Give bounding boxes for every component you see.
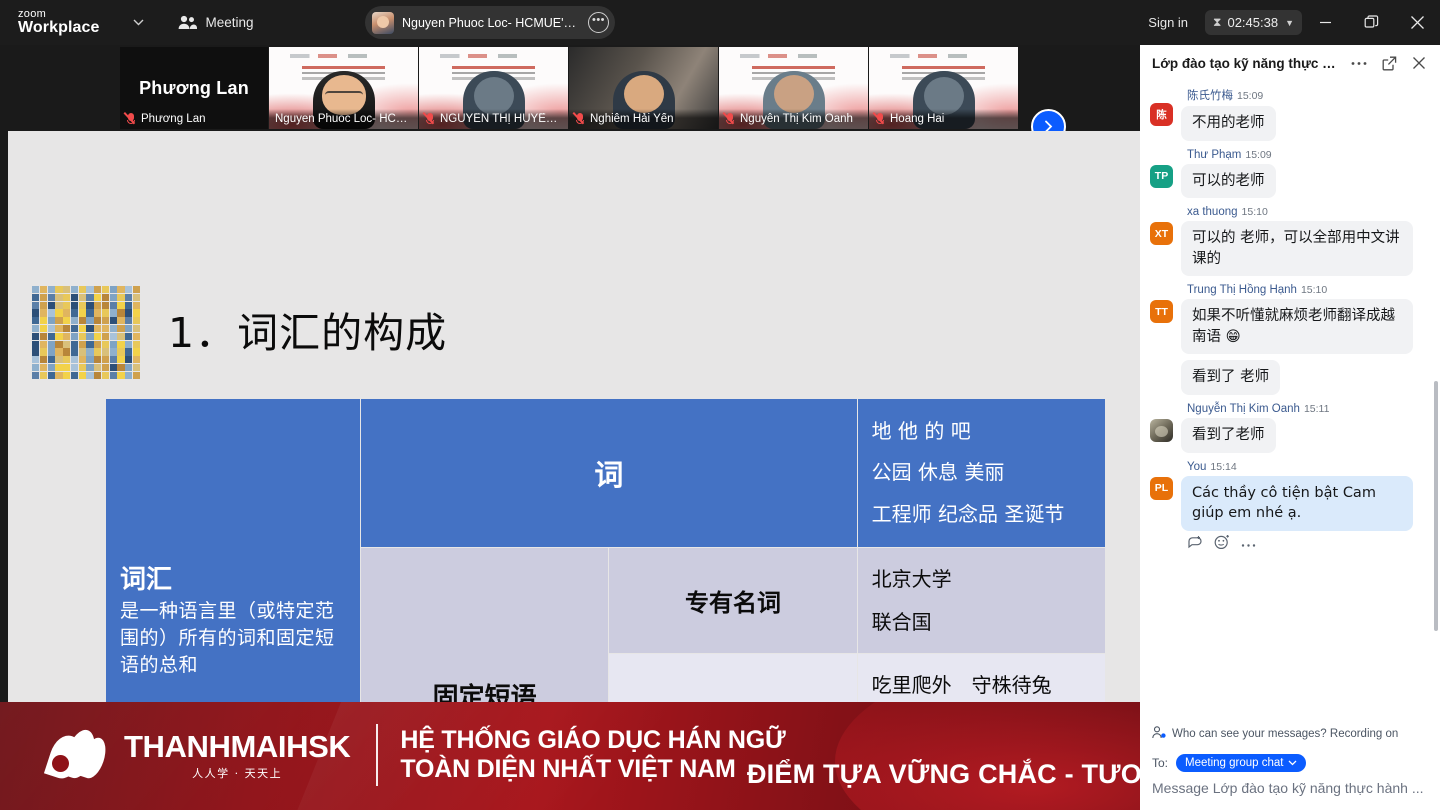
mic-muted-icon <box>575 113 586 126</box>
chat-panel: Lớp đào tạo kỹ năng thực hành gi... 陈陈氏竹… <box>1140 45 1440 810</box>
chat-message-meta: Thư Phạm15:09 <box>1187 149 1430 161</box>
chat-message[interactable]: Nguyễn Thị Kim Oanh15:11看到了老师 <box>1150 401 1430 453</box>
tile-name-label: Phương Lan <box>141 113 205 125</box>
tile-namebar: Hoang Hai <box>869 109 1018 129</box>
chat-message-bubble[interactable]: 如果不听懂就麻烦老师翻译成越南语 😁 <box>1181 299 1413 354</box>
example-line: 吃里爬外 守株待兔 <box>872 664 1105 706</box>
zoom-logo: zoom Workplace <box>18 9 100 37</box>
chat-header: Lớp đào tạo kỹ năng thực hành gi... <box>1140 45 1440 81</box>
slogan-line-1: HỆ THỐNG GIÁO DỤC HÁN NGỮ <box>400 726 785 755</box>
person-privacy-icon <box>1152 726 1166 742</box>
chat-scrollbar[interactable] <box>1434 381 1438 631</box>
word-category-cell: 词 <box>361 399 858 548</box>
chat-message[interactable]: 看到了 老师 <box>1150 360 1430 395</box>
chat-message[interactable]: 陈陈氏竹梅15:09不用的老师 <box>1150 85 1430 141</box>
popout-icon[interactable] <box>1378 52 1400 74</box>
minimize-button[interactable] <box>1302 0 1348 45</box>
chat-message[interactable]: PLYou15:14Các thầy cô tiện bật Cam giúp … <box>1150 459 1430 557</box>
chat-message-actions <box>1187 534 1430 555</box>
mosaic-image <box>32 286 140 379</box>
share-pill-label: Nguyen Phuoc Loc- HCMUE's scr <box>402 16 580 30</box>
avatar: XT <box>1150 222 1173 245</box>
ellipsis-icon[interactable]: ••• <box>588 12 609 33</box>
avatar: TT <box>1150 300 1173 323</box>
brand-lockup: THANHMAIHSK 人人学 · 天天上 HỆ THỐNG GIÁO DỤC … <box>50 724 786 786</box>
brand-wordmark: THANHMAIHSK 人人学 · 天天上 <box>124 731 350 779</box>
brand-subtitle: 人人学 · 天天上 <box>124 768 350 779</box>
chevron-down-icon <box>1288 760 1297 766</box>
tile-namebar: Phương Lan <box>120 109 268 129</box>
tile-namebar: Nguyen Phuoc Loc- HCM... <box>269 109 418 129</box>
chat-message-bubble[interactable]: 看到了老师 <box>1181 418 1276 453</box>
participant-tile[interactable]: Nguyễn Thị Kim Oanh <box>719 47 868 129</box>
proper-noun-cell: 专有名词 <box>609 548 857 654</box>
mic-muted-icon <box>126 113 137 126</box>
chat-sender-name: Nguyễn Thị Kim Oanh <box>1187 403 1300 415</box>
chat-sender-name: 陈氏竹梅 <box>1187 90 1233 102</box>
chat-message[interactable]: TPThư Phạm15:09可以的老师 <box>1150 147 1430 199</box>
mic-muted-icon <box>425 113 436 126</box>
chat-message-body: 陈氏竹梅15:09不用的老师 <box>1181 85 1430 141</box>
meeting-tab-label: Meeting <box>206 15 254 30</box>
brand-divider <box>376 724 378 786</box>
chat-message-body: Thư Phạm15:09可以的老师 <box>1181 147 1430 199</box>
chat-sender-name: Thư Phạm <box>1187 149 1241 161</box>
sign-in-button[interactable]: Sign in <box>1139 9 1197 36</box>
reply-icon[interactable] <box>1187 535 1203 554</box>
close-button[interactable] <box>1394 0 1440 45</box>
slogan-line-2: TOÀN DIỆN NHẤT VIỆT NAM <box>400 755 785 784</box>
chat-message-body: 看到了 老师 <box>1181 360 1430 395</box>
proper-noun-examples-cell: 北京大学 联合国 <box>857 548 1105 654</box>
chat-title: Lớp đào tạo kỹ năng thực hành gi... <box>1152 56 1340 71</box>
avatar: PL <box>1150 477 1173 500</box>
chat-message-meta: Trung Thị Hồng Hạnh15:10 <box>1187 284 1430 296</box>
chat-message-meta: xa thuong15:10 <box>1187 206 1430 218</box>
participant-tile[interactable]: Nguyen Phuoc Loc- HCM... <box>269 47 418 129</box>
vocabulary-description: 是一种语言里（或特定范围的）所有的词和固定短语的总和 <box>120 598 346 679</box>
participant-tile[interactable]: NGUYỄN THỊ HUYỀN-... <box>419 47 568 129</box>
zoom-meeting-window: zoom Workplace Meeting Nguyen Phuoc Loc-… <box>0 0 1440 810</box>
word-examples-cell: 地 他 的 吧 公园 休息 美丽 工程师 纪念品 圣诞节 <box>857 399 1105 548</box>
example-line: 公园 休息 美丽 <box>872 452 1105 493</box>
table-row: 词汇 是一种语言里（或特定范围的）所有的词和固定短语的总和 词 地 他 的 吧 … <box>106 399 1106 548</box>
tile-namebar: Nguyễn Thị Kim Oanh <box>719 109 868 129</box>
example-line: 地 他 的 吧 <box>872 411 1105 452</box>
chat-message-body: You15:14Các thầy cô tiện bật Cam giúp em… <box>1181 459 1430 557</box>
page-title: 1．词汇的构成 <box>168 299 447 359</box>
chat-message-meta: You15:14 <box>1187 461 1430 473</box>
chat-timestamp: 15:14 <box>1210 461 1236 473</box>
avatar: TP <box>1150 165 1173 188</box>
chat-sender-name: xa thuong <box>1187 206 1238 218</box>
brand-name: THANHMAIHSK <box>124 731 350 762</box>
chat-message-bubble[interactable]: 看到了 老师 <box>1181 360 1280 395</box>
chat-recipient-dropdown[interactable]: Meeting group chat <box>1176 754 1306 772</box>
tile-name-label: NGUYỄN THỊ HUYỀN-... <box>440 113 562 125</box>
close-icon[interactable] <box>1408 52 1430 74</box>
zoom-logo-line2: Workplace <box>18 20 100 36</box>
participant-tile[interactable]: Phương Lan Phương Lan <box>120 47 268 129</box>
chat-message[interactable]: XTxa thuong15:10可以的 老师，可以全部用中文讲课的 <box>1150 204 1430 276</box>
example-line: 北京大学 <box>872 558 1105 600</box>
chat-message[interactable]: TTTrung Thị Hồng Hạnh15:10如果不听懂就麻烦老师翻译成越… <box>1150 282 1430 354</box>
participant-tile[interactable]: Nghiêm Hải Yến <box>569 47 718 129</box>
brand-slogan: HỆ THỐNG GIÁO DỤC HÁN NGỮ TOÀN DIỆN NHẤT… <box>400 726 785 784</box>
chat-message-input[interactable]: Message Lớp đào tạo kỹ năng thực hành ..… <box>1140 774 1440 810</box>
chat-message-bubble[interactable]: 不用的老师 <box>1181 106 1276 141</box>
participant-tile[interactable]: Hoang Hai <box>869 47 1018 129</box>
ellipsis-icon[interactable] <box>1348 52 1370 74</box>
chat-message-bubble[interactable]: 可以的老师 <box>1181 164 1276 199</box>
chat-timestamp: 15:09 <box>1237 90 1263 102</box>
title-bar: zoom Workplace Meeting Nguyen Phuoc Loc-… <box>0 0 1440 45</box>
vocabulary-heading: 词汇 <box>120 563 346 598</box>
chevron-down-icon[interactable] <box>126 10 152 36</box>
tile-namebar: Nghiêm Hải Yến <box>569 109 718 129</box>
emoji-icon[interactable] <box>1214 534 1230 555</box>
chat-recipient-row: To: Meeting group chat <box>1140 748 1440 774</box>
chat-message-meta: Nguyễn Thị Kim Oanh15:11 <box>1187 403 1430 415</box>
chevron-down-icon[interactable]: ▼ <box>1285 18 1294 28</box>
chat-message-bubble[interactable]: Các thầy cô tiện bật Cam giúp em nhé ạ. <box>1181 476 1413 531</box>
chat-message-bubble[interactable]: 可以的 老师，可以全部用中文讲课的 <box>1181 221 1413 276</box>
example-line: 联合国 <box>872 601 1105 643</box>
selfview-name: Phương Lan <box>139 78 249 99</box>
meeting-tab[interactable]: Meeting <box>178 15 254 30</box>
chat-sender-name: Trung Thị Hồng Hạnh <box>1187 284 1297 296</box>
meeting-timer-value: 02:45:38 <box>1227 15 1278 30</box>
people-icon <box>178 15 197 30</box>
presentation-slide: 1．词汇的构成 词汇 是一种语言里（或特定范围的）所有的词和固定短语的总和 词 … <box>8 131 1140 702</box>
participant-filmstrip[interactable]: Phương Lan Phương Lan Nguyen Phuoc Loc- … <box>0 45 1140 131</box>
chat-timestamp: 15:10 <box>1301 284 1327 296</box>
chat-privacy-text: Who can see your messages? Recording on <box>1172 728 1398 740</box>
filmstrip-tiles: Phương Lan Phương Lan Nguyen Phuoc Loc- … <box>120 47 1019 129</box>
tile-name-label: Nguyen Phuoc Loc- HCM... <box>275 113 412 125</box>
tile-name-label: Hoang Hai <box>890 113 944 125</box>
mic-muted-icon <box>875 113 886 126</box>
ellipsis-icon[interactable] <box>1241 535 1256 553</box>
mic-muted-icon <box>725 113 736 126</box>
maximize-button[interactable] <box>1348 0 1394 45</box>
chat-timestamp: 15:11 <box>1304 403 1330 415</box>
chat-message-body: xa thuong15:10可以的 老师，可以全部用中文讲课的 <box>1181 204 1430 276</box>
meeting-timer[interactable]: ⧗ 02:45:38 ▼ <box>1205 10 1302 35</box>
chat-message-body: Trung Thị Hồng Hạnh15:10如果不听懂就麻烦老师翻译成越南语… <box>1181 282 1430 354</box>
chat-to-label: To: <box>1152 756 1168 770</box>
window-controls-group: Sign in ⧗ 02:45:38 ▼ <box>1139 0 1440 45</box>
chat-message-meta: 陈氏竹梅15:09 <box>1187 87 1430 103</box>
tile-name-label: Nghiêm Hải Yến <box>590 113 674 125</box>
chat-message-body: Nguyễn Thị Kim Oanh15:11看到了老师 <box>1181 401 1430 453</box>
chat-privacy-notice: Who can see your messages? Recording on <box>1140 722 1440 748</box>
sharer-thumbnail <box>372 12 394 34</box>
thanhmaihsk-logo-icon <box>50 725 108 785</box>
chat-recipient-value: Meeting group chat <box>1185 757 1283 769</box>
chat-timestamp: 15:10 <box>1242 206 1268 218</box>
chat-timestamp: 15:09 <box>1245 149 1271 161</box>
tile-namebar: NGUYỄN THỊ HUYỀN-... <box>419 109 568 129</box>
chat-message-list[interactable]: 陈陈氏竹梅15:09不用的老师TPThư Phạm15:09可以的老师XTxa … <box>1140 81 1440 722</box>
chat-sender-name: You <box>1187 461 1206 473</box>
avatar: 陈 <box>1150 103 1173 126</box>
example-line: 工程师 纪念品 圣诞节 <box>872 494 1105 535</box>
avatar <box>1150 419 1173 442</box>
screen-share-pill[interactable]: Nguyen Phuoc Loc- HCMUE's scr ••• <box>365 6 615 39</box>
tile-name-label: Nguyễn Thị Kim Oanh <box>740 113 853 125</box>
hourglass-icon: ⧗ <box>1213 15 1221 30</box>
